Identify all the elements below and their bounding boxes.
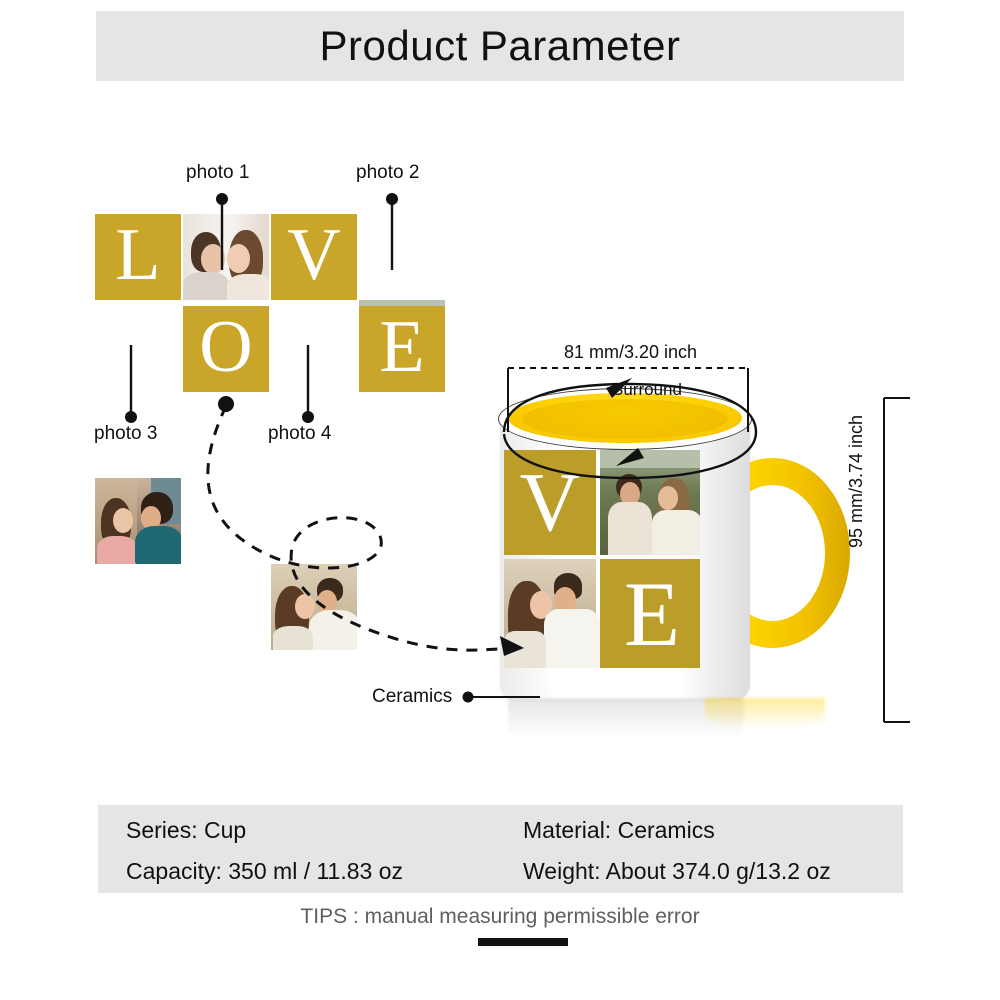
spec-capacity: Capacity: 350 ml / 11.83 oz — [126, 858, 403, 885]
photo3-body-right — [135, 526, 181, 564]
letter-glyph: O — [199, 310, 252, 384]
page-title: Product Parameter — [320, 22, 681, 70]
mug-interior-shadow — [522, 399, 728, 439]
tips-text: TIPS : manual measuring permissible erro… — [0, 905, 1000, 929]
collage-photo-3 — [95, 478, 181, 564]
mug-tile-e: E — [600, 559, 700, 668]
photo1-body-right — [227, 274, 269, 300]
collage-photo-1 — [183, 214, 269, 300]
photo1-face-right — [227, 244, 250, 273]
ceramics-leader-origin-dot — [218, 396, 234, 412]
letter-glyph: E — [379, 310, 424, 384]
mug-letter-glyph-e: E — [624, 568, 680, 660]
leader-dot-photo-4 — [302, 411, 314, 423]
width-dimension-label: 81 mm/3.20 inch — [564, 342, 697, 363]
callout-label-photo-3: photo 3 — [94, 423, 157, 445]
ceramics-callout-label: Ceramics — [372, 686, 452, 708]
leader-dot-photo-2 — [386, 193, 398, 205]
photo4-body-right — [309, 610, 357, 650]
callout-label-photo-2: photo 2 — [356, 162, 419, 184]
love-photo-collage: L V — [95, 214, 445, 396]
collage-tile-letter-v: V — [271, 214, 357, 300]
collage-tile-letter-o: O — [183, 306, 269, 392]
photo3-body-left — [97, 536, 137, 564]
mug-handle-reflection — [705, 698, 825, 728]
photo1-body-left — [183, 272, 229, 300]
callout-label-photo-4: photo 4 — [268, 423, 331, 445]
letter-glyph: L — [115, 218, 160, 292]
mug-print-area: V E — [504, 450, 700, 668]
surround-label: Surround — [612, 380, 682, 400]
spec-table: Series: Cup Material: Ceramics Capacity:… — [98, 805, 903, 893]
letter-glyph: V — [287, 218, 340, 292]
collage-photo-4 — [271, 564, 357, 650]
spec-series: Series: Cup — [126, 817, 246, 844]
leader-dot-photo-3 — [125, 411, 137, 423]
mug-photo-2 — [600, 450, 700, 555]
spec-weight: Weight: About 374.0 g/13.2 oz — [523, 858, 831, 885]
collage-tile-letter-l: L — [95, 214, 181, 300]
product-parameter-page: Product Parameter L V — [0, 0, 1000, 1000]
bottom-divider-bar — [478, 938, 568, 946]
photo4-face-left — [295, 594, 315, 619]
ceramics-callout-dot — [463, 692, 474, 703]
photo4-body-left — [273, 626, 313, 650]
mug-illustration: V E — [480, 380, 900, 750]
mug-letter-glyph-v: V — [520, 461, 581, 545]
header-bar: Product Parameter — [96, 11, 904, 81]
spec-material: Material: Ceramics — [523, 817, 715, 844]
ceramics-curved-leader — [208, 406, 512, 650]
callout-label-photo-1: photo 1 — [186, 162, 249, 184]
collage-tile-letter-e: E — [359, 306, 445, 392]
mug-photo-4 — [504, 559, 596, 668]
photo3-face-left — [113, 508, 133, 533]
leader-dot-photo-1 — [216, 193, 228, 205]
mug-tile-v: V — [504, 450, 596, 555]
height-dimension-label: 95 mm/3.74 inch — [846, 415, 867, 548]
photo1-face-left — [201, 244, 225, 274]
